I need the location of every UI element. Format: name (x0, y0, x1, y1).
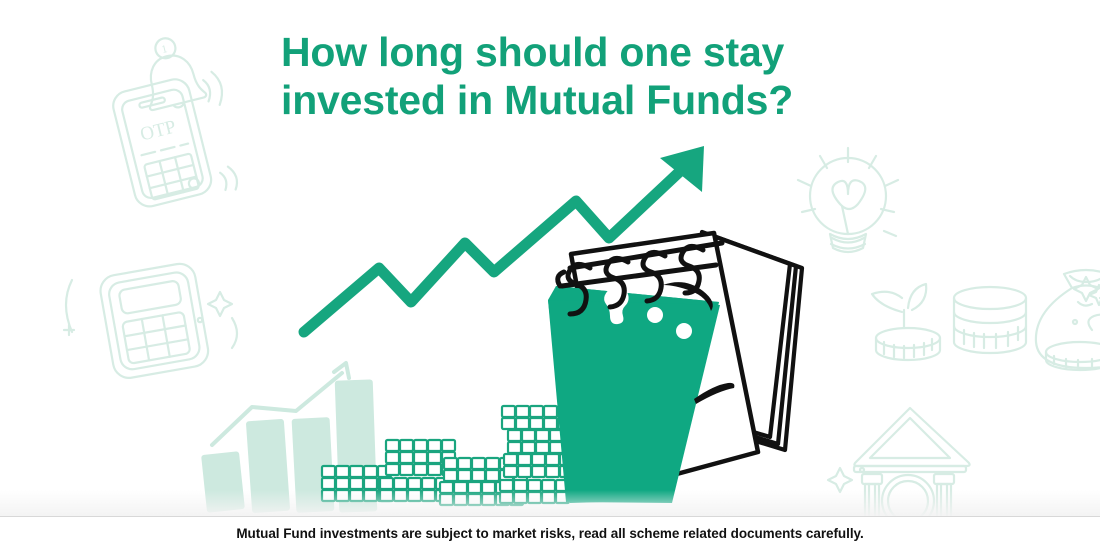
svg-text:1: 1 (160, 43, 168, 56)
illustration-stage: OTP 1 (0, 0, 1100, 518)
sparkle-icon-left (64, 280, 237, 348)
disclaimer-text: Mutual Fund investments are subject to m… (236, 526, 863, 541)
disclaimer-bar: Mutual Fund investments are subject to m… (0, 516, 1100, 550)
bank-building-icon (850, 408, 970, 518)
money-group-icon (872, 270, 1100, 370)
flip-calendar-icon (548, 232, 802, 503)
calculator-icon (98, 261, 211, 380)
otp-phone-icon: OTP 1 (100, 28, 246, 214)
mutual-fund-banner: OTP 1 (0, 0, 1100, 550)
svg-text:OTP: OTP (138, 116, 178, 145)
lightbulb-icon (798, 148, 898, 252)
